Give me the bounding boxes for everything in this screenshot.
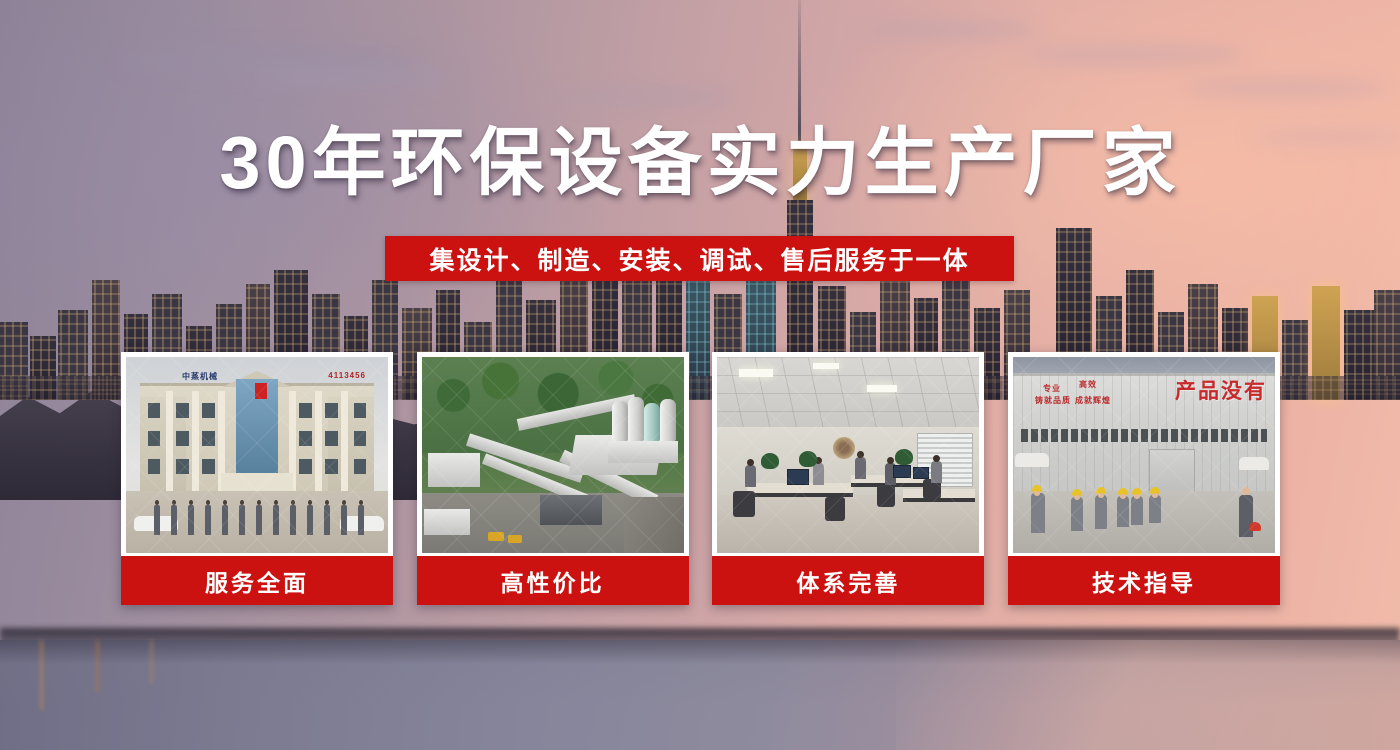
subtitle-banner: 集设计、制造、安装、调试、售后服务于一体 xyxy=(385,236,1014,281)
cloud-2 xyxy=(255,66,455,88)
company-headquarters-photo: 中蒸机械 4113456 xyxy=(126,357,388,553)
hq-phone-text: 4113456 xyxy=(328,371,366,380)
aerial-plant-photo xyxy=(422,357,684,553)
red-helmet xyxy=(1249,522,1261,531)
workshop-training-photo: 产品没有 专业 高效 铸就品质 成就辉煌 xyxy=(1013,357,1275,553)
water-reflection xyxy=(96,640,99,692)
worker xyxy=(1095,495,1107,529)
river-light-reflection xyxy=(896,640,1400,750)
feature-card-service[interactable]: 中蒸机械 4113456 服务全面 xyxy=(121,352,393,605)
cloud-6 xyxy=(560,90,740,104)
subtitle-text: 集设计、制造、安装、调试、售后服务于一体 xyxy=(429,241,969,277)
cloud-5 xyxy=(1180,78,1390,98)
page-title: 30年环保设备实力生产厂家 xyxy=(0,126,1400,200)
worker xyxy=(1149,495,1161,523)
card-caption: 体系完善 xyxy=(712,556,984,605)
worker xyxy=(1117,496,1129,527)
factory-slogan-small: 专业 xyxy=(1043,383,1061,394)
hq-sign-text: 中蒸机械 xyxy=(182,371,218,382)
cloud-3 xyxy=(860,22,1040,38)
card-caption: 高性价比 xyxy=(417,556,689,605)
card-caption-text: 服务全面 xyxy=(205,564,309,598)
card-caption-text: 技术指导 xyxy=(1092,564,1196,598)
promo-banner: 30年环保设备实力生产厂家 集设计、制造、安装、调试、售后服务于一体 xyxy=(0,0,1400,750)
worker xyxy=(1131,496,1143,525)
factory-slogan-small: 成就辉煌 xyxy=(1075,395,1111,406)
feature-card-system[interactable]: 体系完善 xyxy=(712,352,984,605)
office-wall-logo xyxy=(833,437,855,459)
card-caption: 服务全面 xyxy=(121,556,393,605)
factory-slogan-small: 高效 xyxy=(1079,379,1097,390)
office-team-photo xyxy=(717,357,979,553)
cloud-4 xyxy=(1020,46,1250,64)
feature-card-training[interactable]: 产品没有 专业 高效 铸就品质 成就辉煌 xyxy=(1008,352,1280,605)
card-caption: 技术指导 xyxy=(1008,556,1280,605)
water-reflection xyxy=(150,640,153,684)
worker xyxy=(1031,493,1045,533)
card-caption-text: 体系完善 xyxy=(796,564,900,598)
factory-slogan-text: 产品没有 xyxy=(1175,375,1267,405)
feature-card-list: 中蒸机械 4113456 服务全面 xyxy=(121,352,1280,605)
worker xyxy=(1071,497,1083,531)
card-caption-text: 高性价比 xyxy=(501,564,605,598)
water-reflection xyxy=(40,640,43,710)
factory-slogan-small: 铸就品质 xyxy=(1035,395,1071,406)
feature-card-value[interactable]: 高性价比 xyxy=(417,352,689,605)
